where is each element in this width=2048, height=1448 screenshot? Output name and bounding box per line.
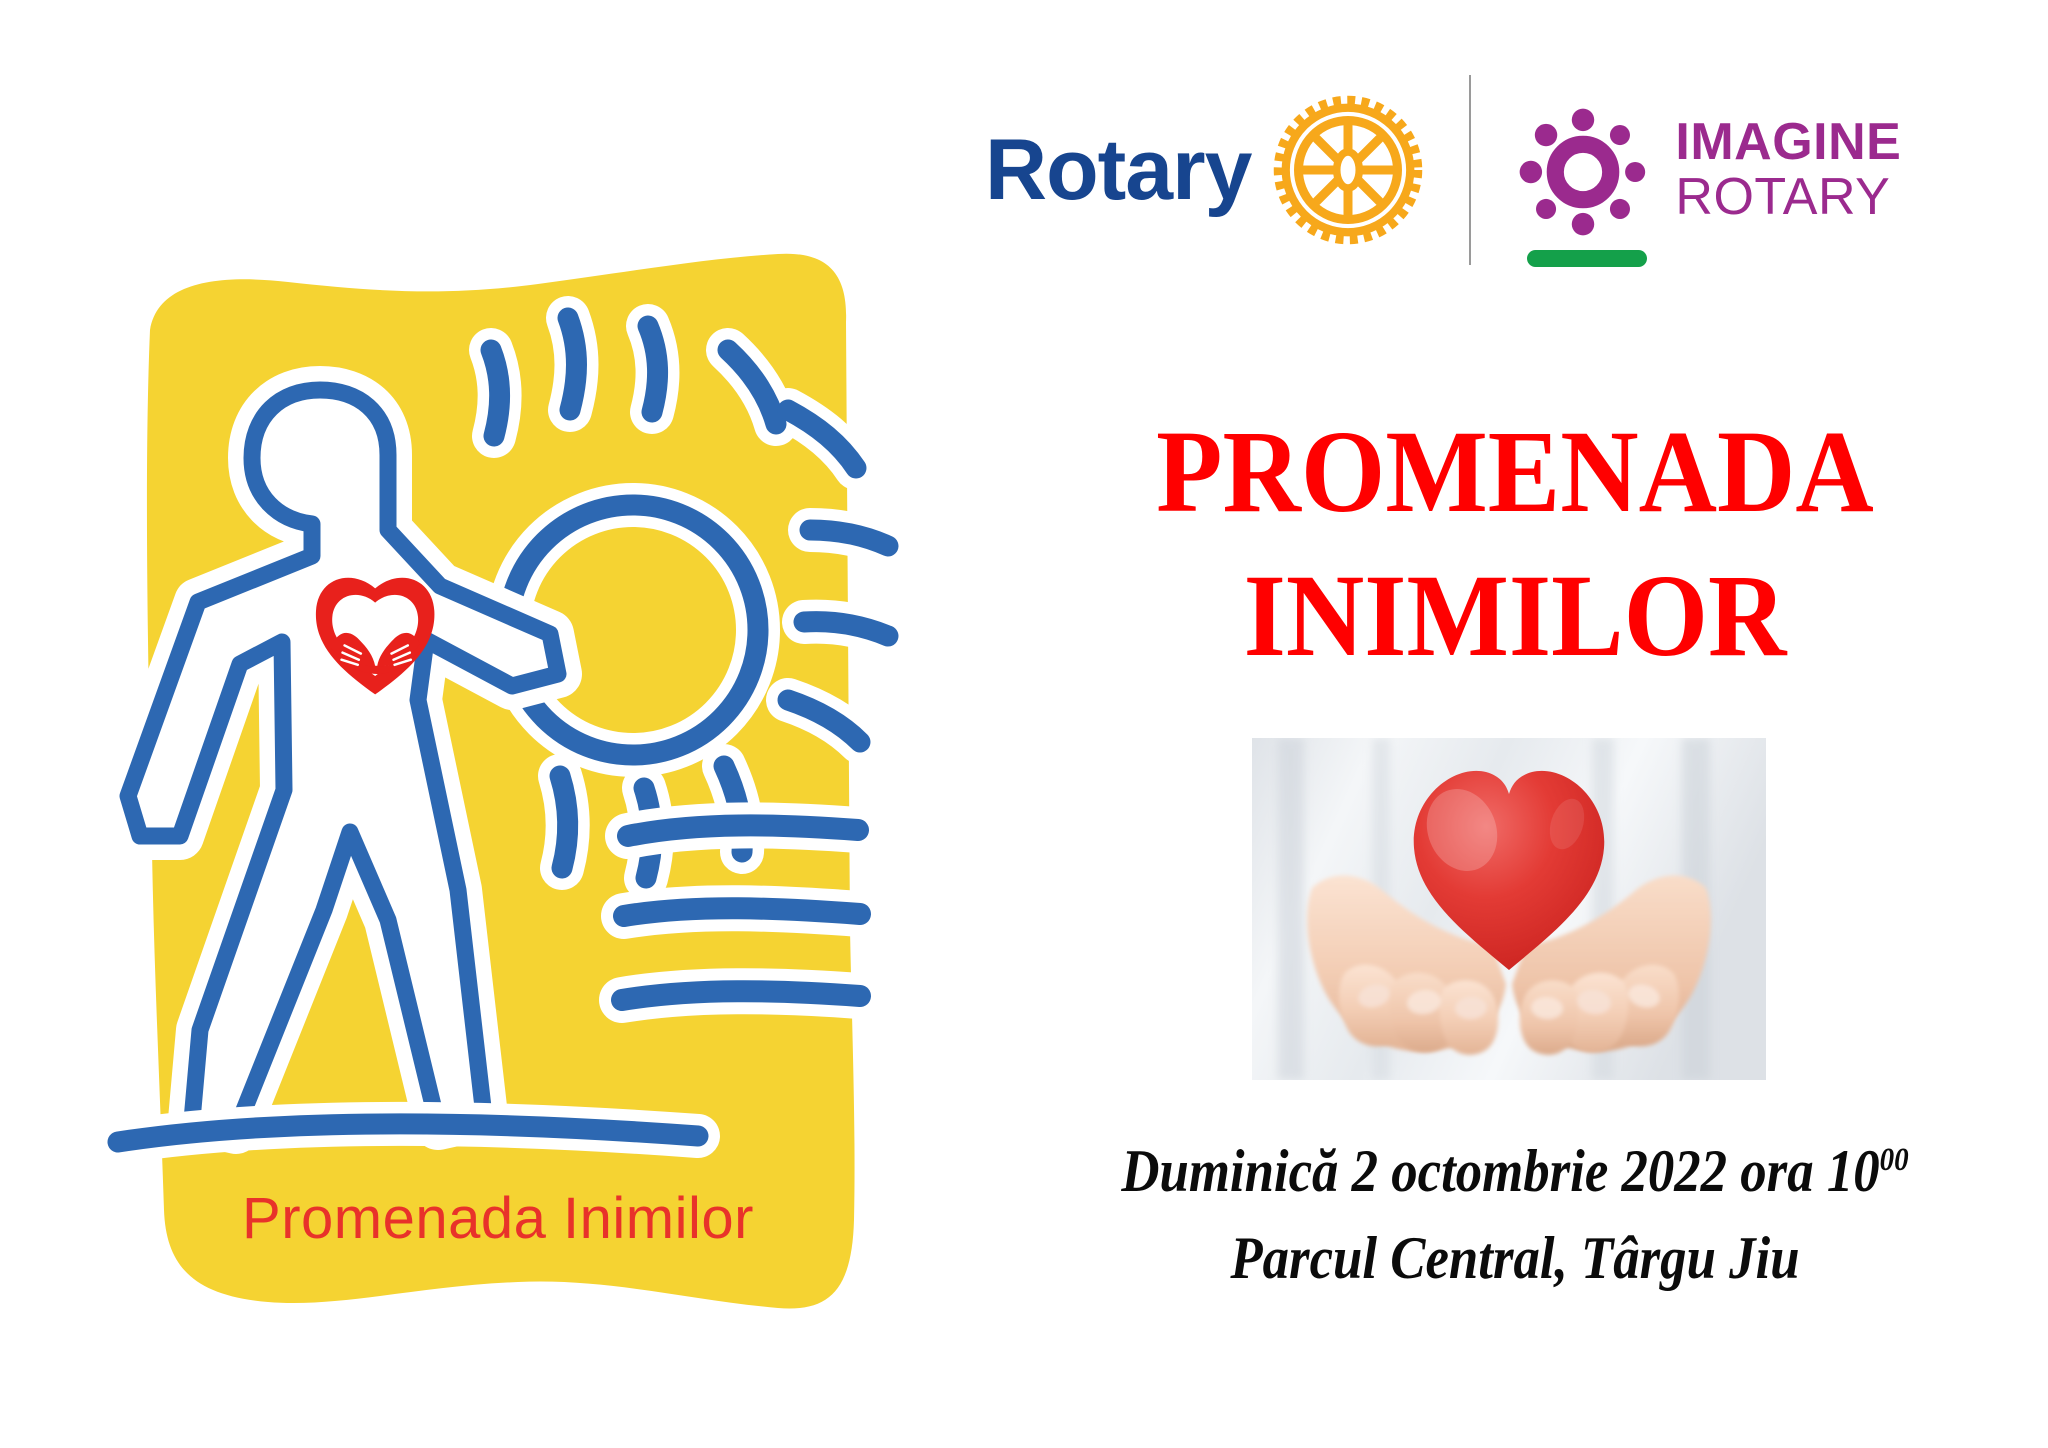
event-datetime: Duminică 2 octombrie 2022 ora 1000 [1071, 1128, 1960, 1215]
hands-holding-heart-photo [1252, 738, 1766, 1080]
green-brushstroke-icon [1527, 250, 1647, 267]
page-title: PROMENADA INIMILOR [1010, 400, 2020, 688]
logo-caption: Promenada Inimilor [88, 1185, 908, 1252]
event-location: Parcul Central, Târgu Jiu [1071, 1215, 1960, 1302]
lockup-divider [1469, 75, 1471, 265]
imagine-rotary-logo: IMAGINE ROTARY [1517, 102, 1901, 238]
rotary-wheel-icon [1273, 95, 1423, 245]
imagine-rotary-label: ROTARY [1675, 169, 1901, 225]
imagine-label: IMAGINE [1675, 116, 1901, 169]
ground-line-icon [118, 1124, 698, 1142]
rotary-wordmark: Rotary [985, 127, 1251, 213]
event-details: Duminică 2 octombrie 2022 ora 1000 Parcu… [1010, 1128, 2020, 1302]
title-line-1: PROMENADA [1050, 400, 1979, 544]
title-line-2: INIMILOR [1050, 544, 1979, 688]
poster-canvas: Promenada Inimilor Rotary [0, 0, 2048, 1448]
rotary-brand-lockup: Rotary [985, 60, 1995, 280]
imagine-rotary-sun-icon [1517, 106, 1649, 238]
event-time-superscript: 00 [1880, 1142, 1909, 1178]
event-date-text: Duminică 2 octombrie 2022 ora 10 [1121, 1138, 1879, 1204]
rotary-logo: Rotary [985, 95, 1423, 245]
